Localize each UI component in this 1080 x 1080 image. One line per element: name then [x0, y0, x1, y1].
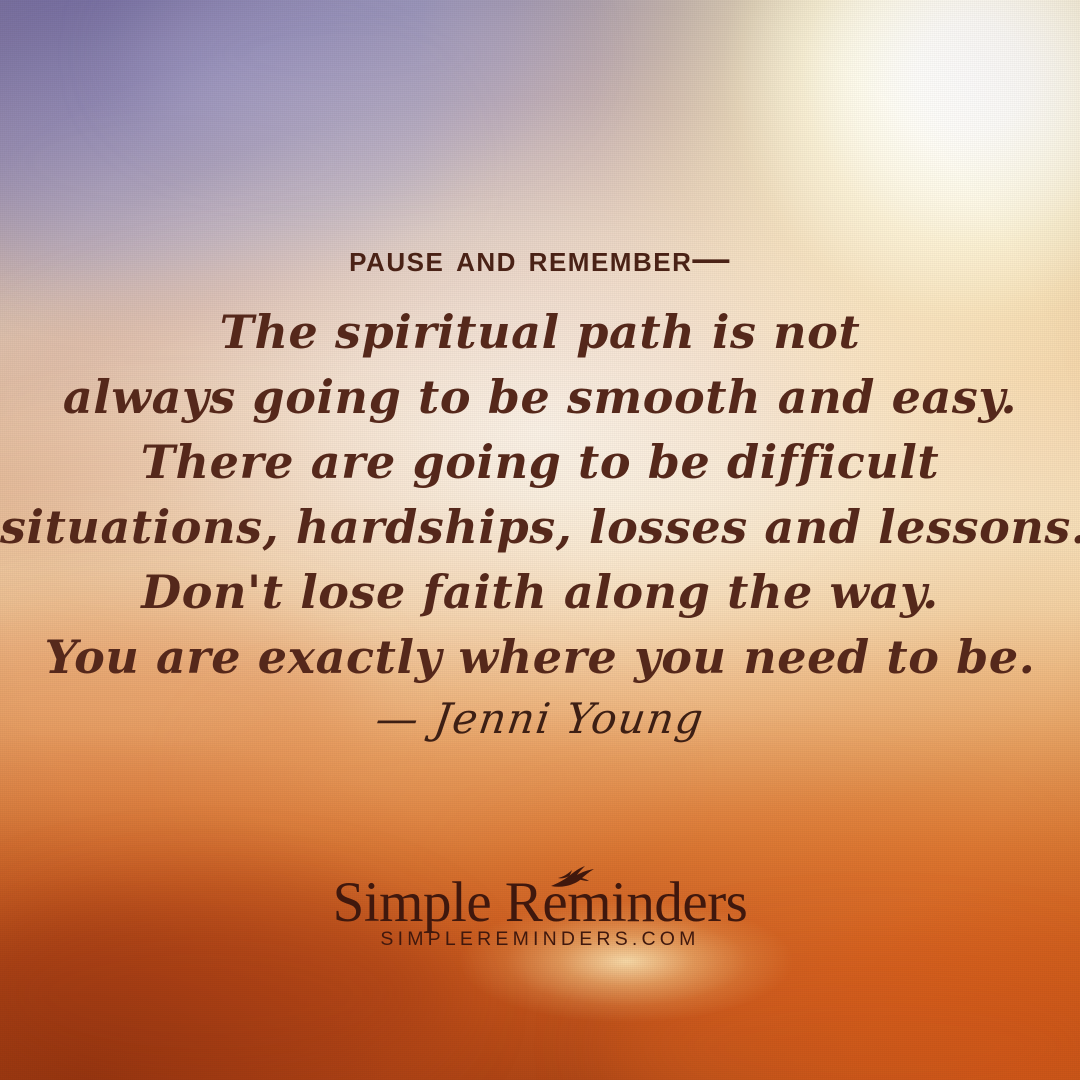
poster-content: Pause and remember— The spiritual path i…: [0, 0, 1080, 1080]
quote-poster: Pause and remember— The spiritual path i…: [0, 0, 1080, 1080]
flying-bird-icon: [548, 864, 604, 894]
quote-line: There are going to be difficult: [0, 430, 1080, 495]
quote-line: You are exactly where you need to be.: [0, 625, 1080, 690]
quote-line: Don't lose faith along the way.: [0, 560, 1080, 625]
quote-line: The spiritual path is not: [0, 300, 1080, 365]
author-signature: — Jenni Young: [0, 694, 1080, 743]
quote-body: The spiritual path is not always going t…: [0, 300, 1080, 690]
logo-url: SIMPLEREMINDERS.COM: [0, 928, 1080, 951]
quote-line: situations, hardships, losses and lesson…: [0, 495, 1080, 560]
headline-pause-and-remember: Pause and remember—: [0, 238, 1080, 280]
simple-reminders-logo[interactable]: Simple Reminders SIMPLEREMINDERS.COM: [0, 868, 1080, 951]
quote-line: always going to be smooth and easy.: [0, 365, 1080, 430]
